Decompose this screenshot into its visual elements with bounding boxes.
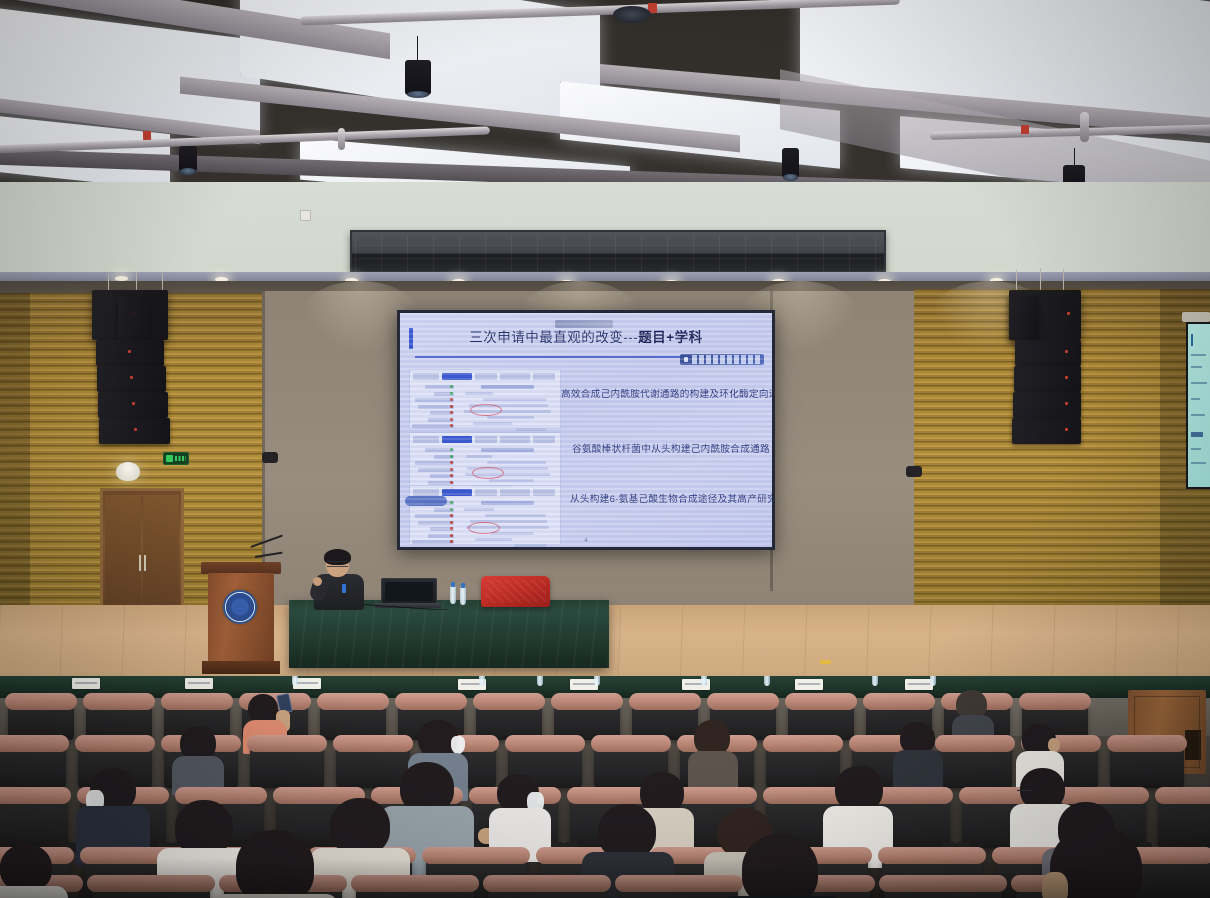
face-mask xyxy=(451,736,465,754)
seat[interactable] xyxy=(250,742,324,788)
presenter xyxy=(312,551,366,609)
form-tab xyxy=(533,489,555,496)
slide-title-bar: 三次申请中最直观的改变---题目+学科 xyxy=(409,327,763,353)
form-tab-row xyxy=(410,433,560,446)
wall-sensor xyxy=(300,210,311,221)
pipe-marker xyxy=(143,131,151,140)
seat[interactable] xyxy=(766,742,840,788)
application-form-screenshot xyxy=(409,369,561,429)
form-tab-selected xyxy=(442,373,472,380)
wall-lamp xyxy=(116,462,140,481)
water-bottle xyxy=(479,676,485,686)
lectern xyxy=(205,562,277,674)
emergency-exit-sign xyxy=(163,452,189,465)
seat[interactable] xyxy=(938,742,1012,788)
red-bag xyxy=(481,576,550,607)
water-bottle xyxy=(450,586,456,604)
projection-screen: 三次申请中最直观的改变---题目+学科 xyxy=(397,310,775,550)
pendant-light xyxy=(782,148,799,178)
pendant-light xyxy=(405,60,431,95)
seat[interactable] xyxy=(320,700,386,740)
pendant-light xyxy=(179,146,197,172)
name-card xyxy=(185,678,213,689)
name-card xyxy=(72,678,100,689)
seat[interactable] xyxy=(86,700,152,740)
form-tab xyxy=(533,436,555,443)
seat[interactable] xyxy=(8,700,74,740)
stage-tape-mark xyxy=(820,660,831,664)
water-bottle xyxy=(594,676,600,686)
form-tab xyxy=(475,489,497,496)
sprinkler-pipe xyxy=(1080,112,1089,142)
water-bottle xyxy=(537,676,543,686)
wall-camera-icon xyxy=(262,452,278,463)
glasses-icon xyxy=(327,561,348,567)
pendant-wire xyxy=(1074,148,1075,166)
slide-corner-pill xyxy=(405,496,447,506)
presenter-laptop[interactable] xyxy=(381,578,437,606)
form-tab xyxy=(500,436,530,443)
audience-seating xyxy=(0,676,1210,898)
slide-title: 三次申请中最直观的改变---题目+学科 xyxy=(409,327,763,349)
name-card xyxy=(795,679,823,690)
seat[interactable] xyxy=(1158,794,1210,848)
ceiling-speaker xyxy=(613,6,651,23)
application-form-screenshot xyxy=(409,432,561,492)
glasses-icon xyxy=(1017,790,1033,794)
slide-item-text: 从头构建6-氨基己酸生物合成途径及其高产研究 xyxy=(570,491,772,505)
form-field-labels xyxy=(412,385,454,434)
seat[interactable] xyxy=(554,700,620,740)
seat[interactable] xyxy=(788,700,854,740)
slide-item-text: 谷氨酸棒状杆菌中从头构建己内酰胺合成通路 xyxy=(572,441,770,455)
presenter-table xyxy=(289,600,609,668)
form-tab xyxy=(413,436,439,443)
form-tab xyxy=(500,489,530,496)
water-bottle xyxy=(292,676,298,686)
red-circle-annotation xyxy=(468,522,500,534)
water-bottle xyxy=(460,587,466,605)
form-tab xyxy=(533,373,555,380)
name-card xyxy=(905,679,933,690)
red-circle-annotation xyxy=(472,467,504,479)
left-line-array-speaker xyxy=(88,282,198,467)
form-tab xyxy=(500,373,530,380)
pipe-marker xyxy=(1021,125,1029,134)
form-tab-selected xyxy=(442,436,472,443)
form-tab xyxy=(413,489,439,496)
slide-item-text: 高效合成己内酰胺代谢通路的构建及环化酶定向进化研究 xyxy=(561,386,772,400)
water-bottle xyxy=(701,676,707,686)
slide-title-main: 三次申请中最直观的改变--- xyxy=(469,330,638,345)
form-tab xyxy=(475,436,497,443)
water-bottle xyxy=(764,676,770,686)
seat[interactable] xyxy=(632,700,698,740)
auditorium-photo: 三次申请中最直观的改变---题目+学科 xyxy=(0,0,1210,898)
slide-page-number: 4 xyxy=(400,538,772,544)
right-line-array-speaker xyxy=(1003,280,1113,470)
seat[interactable] xyxy=(1110,742,1184,788)
slide-badge xyxy=(680,354,764,365)
handheld-microphone xyxy=(342,584,346,593)
side-monitor-bracket xyxy=(1182,312,1210,322)
pendant-wire xyxy=(417,36,418,62)
form-tab xyxy=(413,373,439,380)
seat[interactable] xyxy=(336,742,410,788)
sprinkler-pipe xyxy=(338,128,345,150)
water-bottle xyxy=(930,676,936,686)
floor-shadow xyxy=(0,858,1210,898)
seat[interactable] xyxy=(0,794,68,848)
side-door[interactable] xyxy=(100,488,184,618)
form-tab xyxy=(475,373,497,380)
form-tab-row xyxy=(410,370,560,383)
wall-camera-icon xyxy=(906,466,922,477)
university-crest-icon xyxy=(223,590,257,624)
application-form-screenshot xyxy=(409,485,561,545)
form-tab-selected xyxy=(442,489,472,496)
seat[interactable] xyxy=(0,742,66,788)
red-circle-annotation xyxy=(470,404,502,416)
seat[interactable] xyxy=(476,700,542,740)
acoustic-banner-panel xyxy=(350,230,886,277)
water-bottle xyxy=(872,676,878,686)
side-monitor xyxy=(1186,322,1210,489)
slide-title-bold: 题目+学科 xyxy=(638,330,702,345)
